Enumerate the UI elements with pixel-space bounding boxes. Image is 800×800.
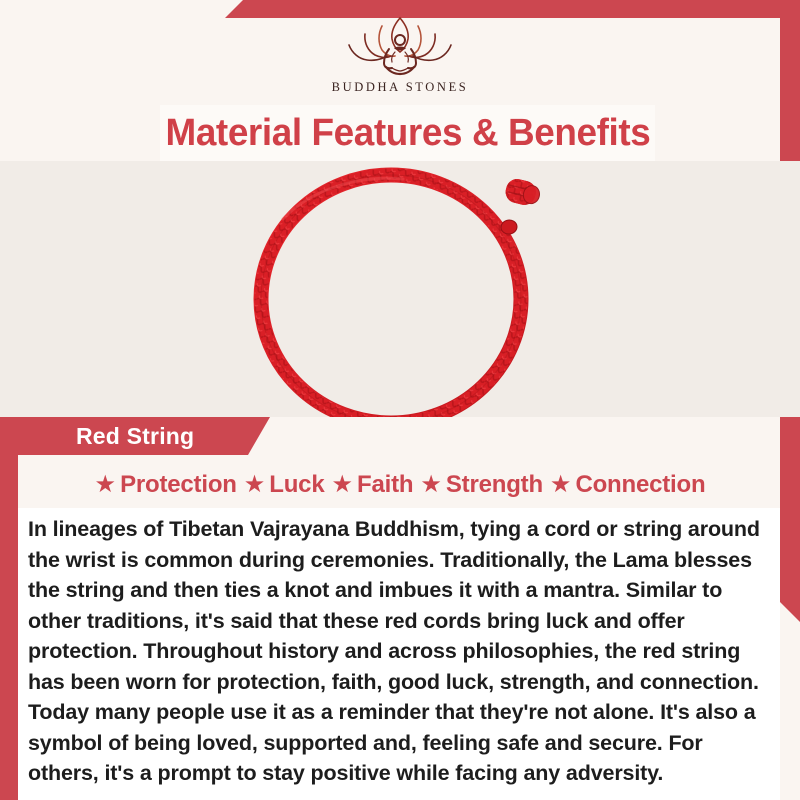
benefits-row: ★ Protection ★ Luck ★ Faith ★ Strength ★… — [0, 464, 800, 506]
page-title-card: Material Features & Benefits — [160, 105, 655, 161]
description-text: In lineages of Tibetan Vajrayana Buddhis… — [28, 514, 764, 789]
benefit-label: Luck — [269, 471, 324, 499]
product-ribbon-label: Red String — [76, 423, 194, 450]
benefit-item-faith: ★ Faith — [331, 471, 413, 499]
lotus-meditation-icon — [334, 12, 466, 78]
star-icon: ★ — [331, 473, 353, 497]
infographic-poster: BUDDHA STONES Material Features & Benefi… — [0, 0, 800, 800]
benefit-item-protection: ★ Protection — [95, 471, 237, 499]
brand-logo: BUDDHA STONES — [0, 12, 800, 95]
star-icon: ★ — [244, 473, 266, 497]
product-photo-area — [0, 161, 800, 417]
red-string-bracelet-image — [193, 161, 613, 417]
star-icon: ★ — [95, 473, 117, 497]
product-ribbon: Red String — [18, 417, 270, 455]
star-icon: ★ — [420, 473, 442, 497]
benefit-label: Connection — [575, 471, 705, 499]
benefit-item-luck: ★ Luck — [244, 471, 325, 499]
page-title: Material Features & Benefits — [165, 112, 650, 155]
description-panel: In lineages of Tibetan Vajrayana Buddhis… — [18, 508, 780, 800]
star-icon: ★ — [550, 473, 572, 497]
benefit-item-strength: ★ Strength — [420, 471, 543, 499]
benefit-label: Protection — [120, 471, 237, 499]
benefit-label: Strength — [446, 471, 543, 499]
benefit-item-connection: ★ Connection — [550, 471, 706, 499]
brand-name: BUDDHA STONES — [0, 80, 800, 95]
benefit-label: Faith — [357, 471, 413, 499]
